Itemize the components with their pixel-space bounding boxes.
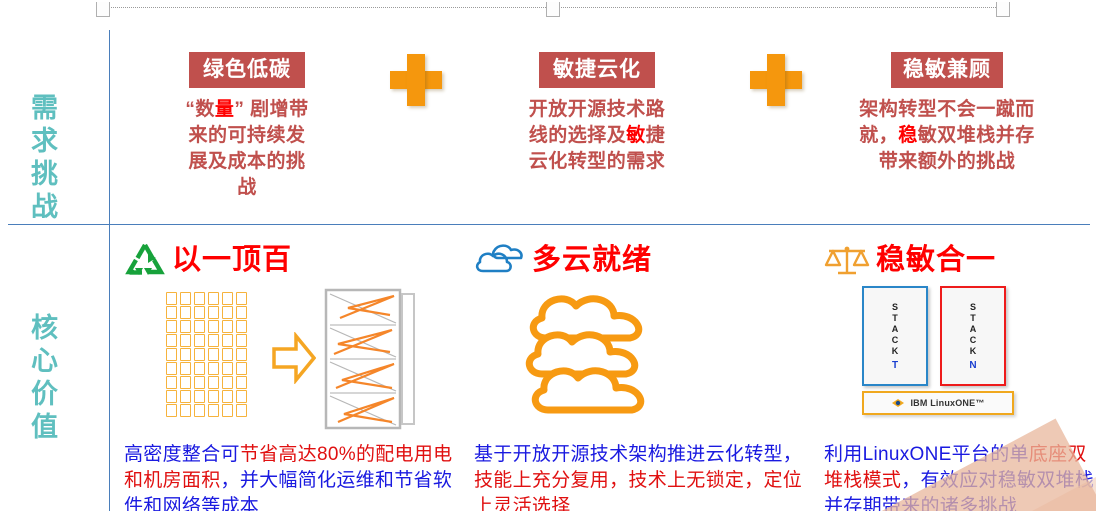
server-unit	[166, 334, 177, 347]
server-unit	[236, 292, 247, 305]
server-unit	[166, 292, 177, 305]
server-unit	[180, 362, 191, 375]
server-unit	[194, 306, 205, 319]
value-heading: 多云就绪	[474, 240, 804, 280]
card-body-highlight: 稳	[898, 125, 918, 146]
row-label-char: 求	[14, 125, 76, 158]
server-unit	[236, 334, 247, 347]
horizontal-divider	[8, 224, 1090, 225]
row-label-char: 核	[14, 312, 76, 345]
value-body-seg-red: 节省高达80%	[240, 444, 356, 465]
stack-boxes-group: STACK T STACK N IBM LinuxONE™	[862, 286, 1022, 415]
demand-card-stable-agile[interactable]: 稳敏兼顾 架构转型不会一蹴而就，稳敏双堆栈并存带来额外的挑战	[862, 52, 1032, 175]
server-unit	[166, 348, 177, 361]
server-unit	[166, 404, 177, 417]
plus-bar-vertical	[767, 54, 785, 106]
small-servers-grid	[166, 292, 250, 418]
server-unit	[222, 390, 233, 403]
card-badge-label: 敏捷云化	[539, 52, 655, 88]
server-rack-icon	[324, 288, 420, 430]
linuxone-logo-icon	[891, 397, 905, 409]
server-unit	[180, 306, 191, 319]
server-consolidation-diagram	[124, 284, 454, 434]
value-heading-title: 多云就绪	[532, 243, 652, 277]
card-badge-label: 绿色低碳	[189, 52, 305, 88]
plus-bar-vertical	[407, 54, 425, 106]
card-body-text: 开放开源技术路线的选择及敏捷云化转型的需求	[512, 97, 682, 175]
server-unit	[208, 390, 219, 403]
row-label-char: 价	[14, 378, 76, 411]
server-unit	[180, 404, 191, 417]
server-unit	[208, 376, 219, 389]
server-unit	[166, 376, 177, 389]
server-unit	[208, 348, 219, 361]
card-body-text: “数量” 剧增带来的可持续发展及成本的挑战	[162, 97, 332, 201]
server-unit	[236, 362, 247, 375]
top-bracket-guide	[96, 2, 1008, 18]
bracket-tick-middle	[546, 2, 560, 17]
bracket-line-left	[102, 7, 546, 8]
server-unit	[236, 404, 247, 417]
server-unit	[208, 404, 219, 417]
row-label-value: 核心价值	[14, 312, 76, 444]
bracket-line-right	[558, 7, 1002, 8]
server-unit	[236, 390, 247, 403]
server-unit	[236, 348, 247, 361]
value-column-multicloud[interactable]: 多云就绪 基于开放开源技术架构推进云化转型，技能上充分复用，技术上无锁定，定位上…	[474, 240, 804, 511]
value-body-seg-red: 技能上充分复用，技术上无锁定，定位上灵活选择	[474, 470, 802, 511]
server-unit	[180, 320, 191, 333]
plus-icon	[390, 54, 442, 106]
server-unit	[222, 334, 233, 347]
plus-icon	[750, 54, 802, 106]
server-unit	[208, 362, 219, 375]
server-unit	[194, 362, 205, 375]
three-clouds-icon	[516, 284, 676, 424]
card-body-highlight: 敏	[626, 125, 646, 146]
server-unit	[180, 348, 191, 361]
server-unit	[166, 320, 177, 333]
demand-card-green-low-carbon[interactable]: 绿色低碳 “数量” 剧增带来的可持续发展及成本的挑战	[162, 52, 332, 201]
server-unit	[166, 306, 177, 319]
dual-stack-linuxone-diagram: STACK T STACK N IBM LinuxONE™	[824, 284, 1096, 434]
card-body-highlight: 量	[215, 99, 235, 120]
server-unit	[222, 292, 233, 305]
stack-box-t: STACK T	[862, 286, 928, 386]
stack-box-tag: T	[892, 360, 898, 371]
row-label-char: 战	[14, 191, 76, 224]
linuxone-platform-bar: IBM LinuxONE™	[862, 391, 1014, 415]
vertical-divider	[109, 30, 110, 511]
row-label-char: 心	[14, 345, 76, 378]
card-body-text: 架构转型不会一蹴而就，稳敏双堆栈并存带来额外的挑战	[858, 97, 1036, 175]
stack-box-letters: STACK	[892, 302, 899, 357]
server-unit	[222, 376, 233, 389]
server-unit	[180, 390, 191, 403]
server-unit	[180, 334, 191, 347]
cloud-icon	[474, 243, 526, 277]
server-unit	[208, 334, 219, 347]
value-heading: 以一顶百	[124, 240, 454, 280]
row-label-char: 值	[14, 411, 76, 444]
value-body-seg: 高密度整合可	[124, 444, 240, 465]
server-unit	[236, 376, 247, 389]
server-unit	[194, 320, 205, 333]
server-unit	[194, 334, 205, 347]
bracket-tick-end	[996, 2, 1010, 17]
server-unit	[222, 348, 233, 361]
card-body-seg: “数	[185, 99, 215, 120]
server-unit	[208, 306, 219, 319]
balance-scales-icon	[824, 243, 870, 277]
server-unit	[236, 320, 247, 333]
demand-card-agile-cloud[interactable]: 敏捷云化 开放开源技术路线的选择及敏捷云化转型的需求	[512, 52, 682, 175]
value-heading-title: 以一顶百	[172, 243, 292, 277]
stack-row: STACK T STACK N	[862, 286, 1022, 386]
row-label-char: 挑	[14, 158, 76, 191]
stacked-clouds-diagram	[474, 284, 804, 434]
server-unit	[222, 362, 233, 375]
server-unit	[166, 362, 177, 375]
transform-arrow-icon	[272, 332, 316, 384]
server-unit	[208, 320, 219, 333]
value-body-seg: 基于开放开源技术架构推进云化转型，	[474, 444, 802, 465]
value-heading-title: 稳敏合一	[876, 243, 996, 277]
server-unit	[180, 292, 191, 305]
server-unit	[222, 320, 233, 333]
server-unit	[222, 306, 233, 319]
server-unit	[180, 376, 191, 389]
stack-box-tag: N	[969, 360, 976, 371]
server-unit	[236, 306, 247, 319]
server-unit	[166, 390, 177, 403]
stack-box-n: STACK N	[940, 286, 1006, 386]
server-unit	[222, 404, 233, 417]
bracket-tick-start	[96, 2, 110, 17]
row-label-char: 需	[14, 92, 76, 125]
linuxone-platform-label: IBM LinuxONE™	[910, 398, 984, 408]
recycle-icon	[124, 241, 166, 279]
value-body-text: 高密度整合可节省高达80%的配电用电和机房面积，并大幅简化运维和节省软件和网络等…	[124, 442, 454, 511]
server-unit	[194, 390, 205, 403]
server-unit	[194, 376, 205, 389]
value-body-seg-red: 面积	[182, 470, 221, 491]
server-unit	[194, 292, 205, 305]
slide-canvas: 需求挑战 核心价值 绿色低碳 “数量” 剧增带来的可持续发展及成本的挑战 敏捷云…	[0, 0, 1096, 511]
value-column-consolidation[interactable]: 以一顶百	[124, 240, 454, 511]
row-label-demand: 需求挑战	[14, 92, 76, 224]
server-unit	[194, 404, 205, 417]
stack-box-letters: STACK	[970, 302, 977, 357]
server-unit	[194, 348, 205, 361]
value-heading: 稳敏合一	[824, 240, 1096, 280]
server-unit	[208, 292, 219, 305]
value-body-text: 基于开放开源技术架构推进云化转型，技能上充分复用，技术上无锁定，定位上灵活选择	[474, 442, 804, 511]
card-badge-label: 稳敏兼顾	[891, 52, 1003, 88]
